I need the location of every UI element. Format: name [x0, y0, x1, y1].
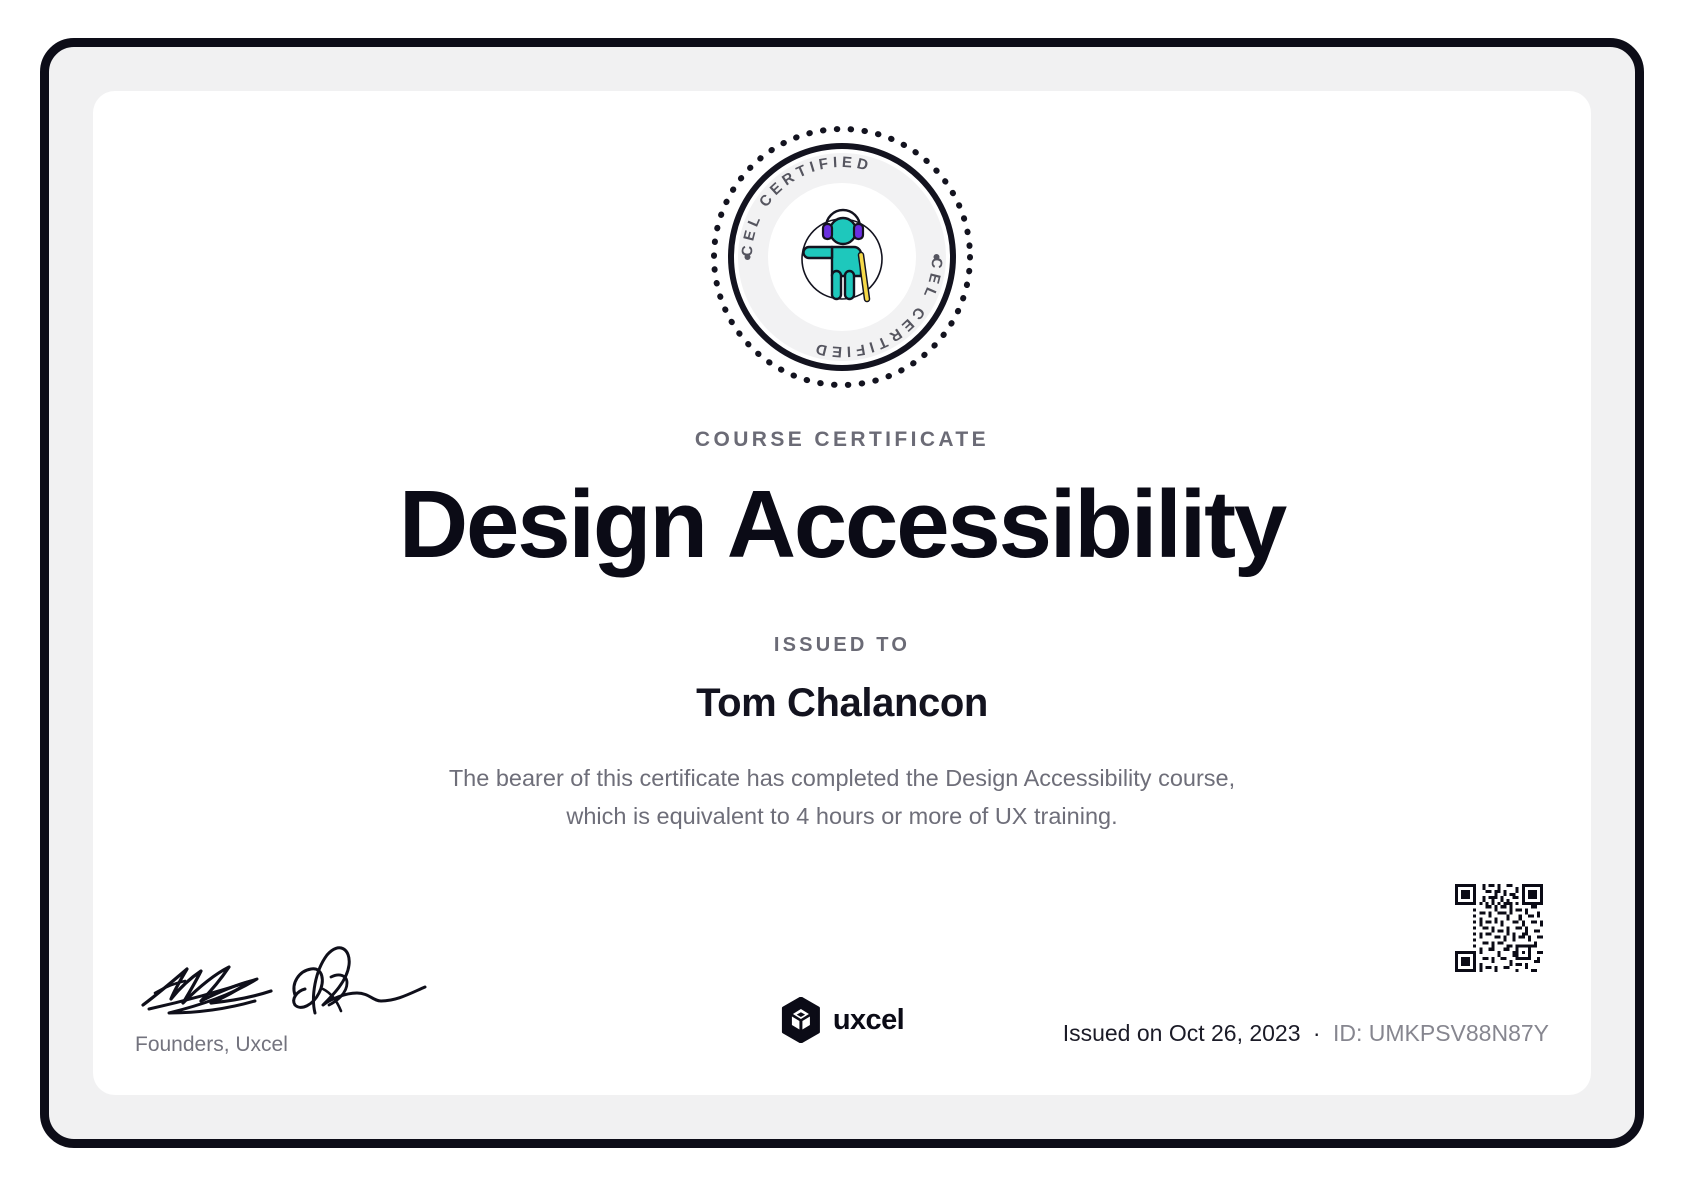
issued-on-date: Issued on Oct 26, 2023: [1063, 1020, 1301, 1046]
page-title: Design Accessibility: [93, 471, 1591, 579]
uxcel-wordmark: uxcel: [833, 1004, 904, 1037]
qr-code[interactable]: [1455, 884, 1543, 972]
certificate-frame: UXCEL CERTIFIED UXCEL CERTIFIED: [40, 38, 1644, 1148]
description-line-1: The bearer of this certificate has compl…: [392, 759, 1292, 797]
certificate-id: ID: UMKPSV88N87Y: [1333, 1020, 1549, 1046]
description-line-2: which is equivalent to 4 hours or more o…: [392, 797, 1292, 835]
founder-signatures-icon: [135, 943, 435, 1025]
uxcel-logo: uxcel: [780, 997, 904, 1043]
signature-block: Founders, Uxcel: [135, 943, 465, 1057]
issuance-separator: ·: [1307, 1020, 1327, 1046]
recipient-name: Tom Chalancon: [93, 681, 1591, 726]
uxcel-certified-badge-icon: UXCEL CERTIFIED UXCEL CERTIFIED: [708, 123, 976, 391]
certificate-card: UXCEL CERTIFIED UXCEL CERTIFIED: [93, 91, 1591, 1095]
signature-caption: Founders, Uxcel: [135, 1033, 465, 1057]
issuance-block: Issued on Oct 26, 2023 · ID: UMKPSV88N87…: [1063, 1020, 1549, 1047]
certificate-description: The bearer of this certificate has compl…: [392, 759, 1292, 835]
course-certificate-eyebrow: COURSE CERTIFICATE: [93, 428, 1591, 452]
uxcel-hexagon-icon: [780, 997, 822, 1043]
issued-to-eyebrow: ISSUED TO: [93, 634, 1591, 657]
